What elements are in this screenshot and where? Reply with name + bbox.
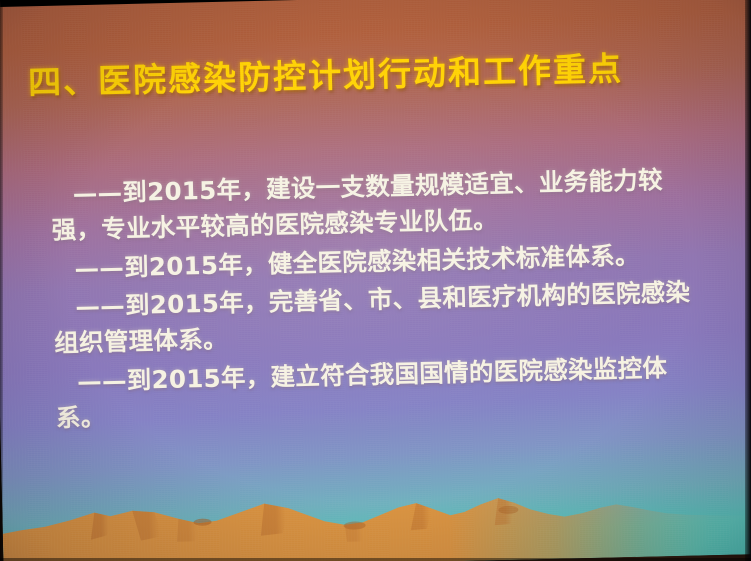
slide-body-list: ——到2015年，建设一支数量规模适宜、业务能力较强，专业水平较高的医院感染专业… (50, 162, 696, 440)
projection-screen: 四、医院感染防控计划行动和工作重点 ——到2015年，建设一支数量规模适宜、业务… (0, 0, 751, 561)
slide-bullet-item: ——到2015年，建立符合我国国情的医院感染监控体系。 (55, 349, 697, 436)
photo-left-edge (0, 0, 3, 561)
slide-bullet-item: ——到2015年，完善省、市、县和医疗机构的医院感染组织管理体系。 (53, 275, 695, 362)
projected-slide-photo: 四、医院感染防控计划行动和工作重点 ——到2015年，建设一支数量规模适宜、业务… (0, 0, 751, 561)
slide-title: 四、医院感染防控计划行动和工作重点 (28, 49, 729, 102)
slide-bullet-item: ——到2015年，建设一支数量规模适宜、业务能力较强，专业水平较高的医院感染专业… (50, 162, 692, 249)
photo-right-edge (745, 0, 751, 561)
slide-canvas: 四、医院感染防控计划行动和工作重点 ——到2015年，建设一支数量规模适宜、业务… (0, 0, 751, 561)
mountain-silhouette-graphic (2, 464, 751, 561)
